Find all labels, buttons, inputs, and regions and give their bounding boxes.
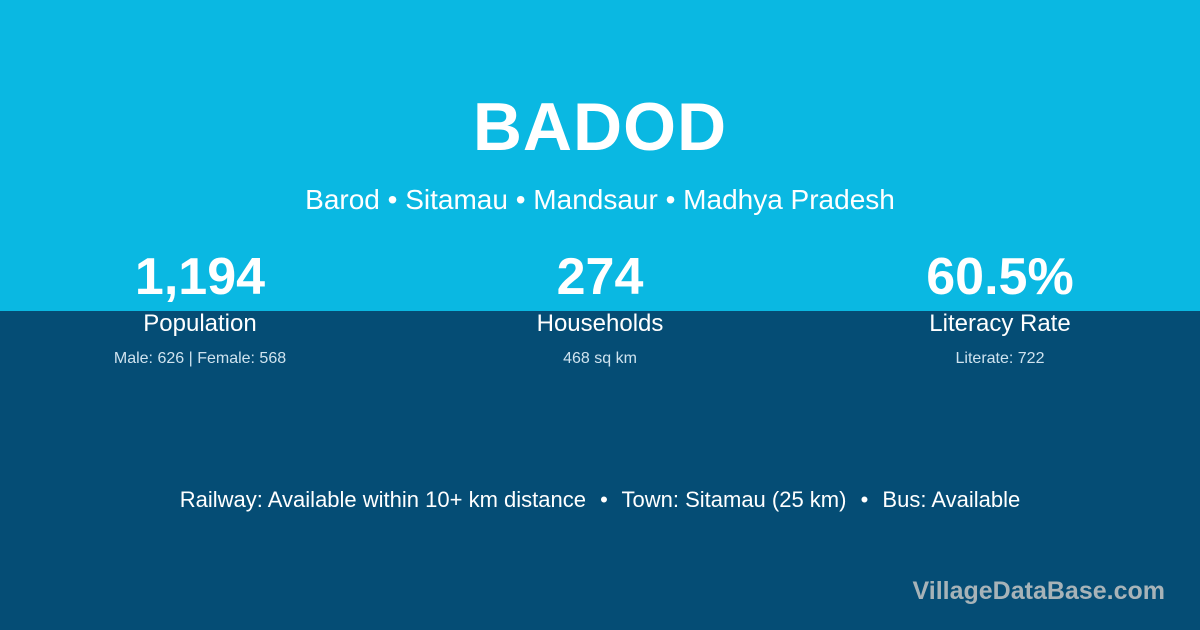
stat-label: Literacy Rate	[800, 308, 1200, 340]
stat-sublabel: Literate: 722	[800, 348, 1200, 370]
stat-value: 1,194	[0, 248, 400, 306]
facilities-line: Railway: Available within 10+ km distanc…	[0, 485, 1200, 515]
page-title: BADOD	[0, 88, 1200, 166]
stat-label: Households	[400, 308, 800, 340]
stat-households: 274 Households 468 sq km	[400, 248, 800, 370]
stat-literacy-rate: 60.5% Literacy Rate Literate: 722	[800, 248, 1200, 370]
facility-town: Town: Sitamau (25 km)	[622, 487, 847, 512]
facility-separator: •	[853, 487, 877, 512]
stat-population: 1,194 Population Male: 626 | Female: 568	[0, 248, 400, 370]
stats-row: 1,194 Population Male: 626 | Female: 568…	[0, 248, 1200, 370]
stat-sublabel: Male: 626 | Female: 568	[0, 348, 400, 370]
stat-value: 274	[400, 248, 800, 306]
breadcrumb: Barod • Sitamau • Mandsaur • Madhya Prad…	[0, 182, 1200, 218]
facility-separator: •	[592, 487, 616, 512]
site-brand: VillageDataBase.com	[913, 576, 1165, 606]
stat-value: 60.5%	[800, 248, 1200, 306]
village-info-card: BADOD Barod • Sitamau • Mandsaur • Madhy…	[0, 0, 1200, 630]
facility-bus: Bus: Available	[882, 487, 1020, 512]
facility-railway: Railway: Available within 10+ km distanc…	[180, 487, 586, 512]
stat-label: Population	[0, 308, 400, 340]
stat-sublabel: 468 sq km	[400, 348, 800, 370]
